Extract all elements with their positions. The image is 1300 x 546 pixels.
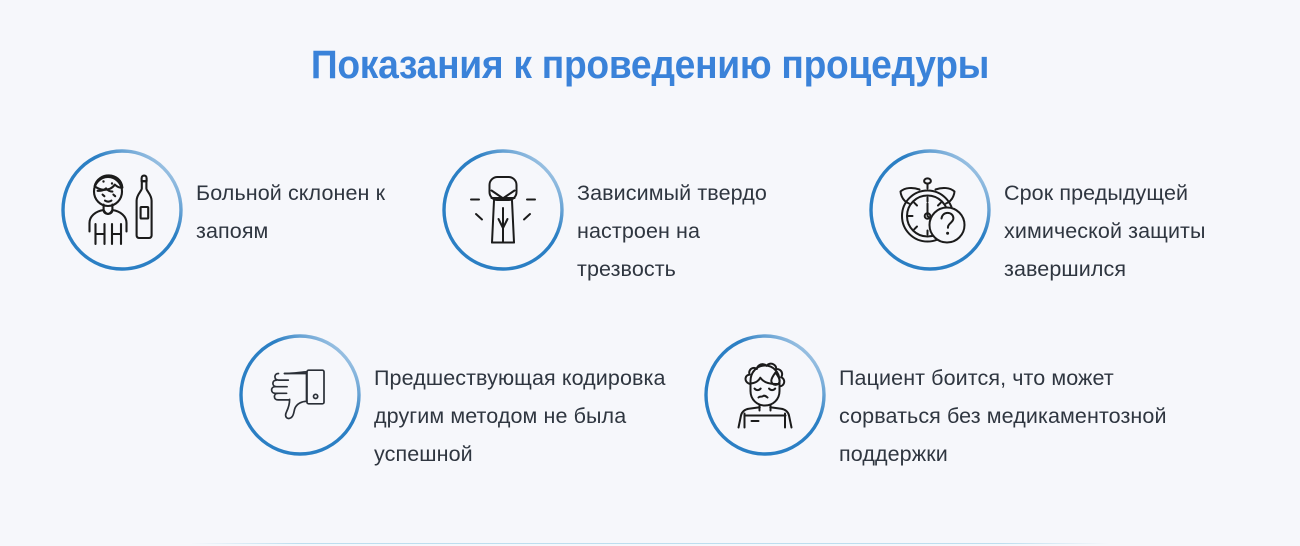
page-title: Показания к проведению процедуры	[46, 44, 1255, 86]
indication-item-previous-coding-failed: Предшествующая кодировка другим методом …	[238, 333, 688, 473]
person-with-bottle-icon	[60, 148, 184, 272]
indication-item-firm-sobriety-intent: Зависимый твердо настроен на трезвость	[441, 148, 831, 288]
indication-item-fear-of-relapse: Пациент боится, что может сорваться без …	[703, 333, 1223, 473]
bottom-divider	[190, 543, 1110, 544]
icon-badge	[441, 148, 565, 272]
indication-text: Зависимый твердо настроен на трезвость	[577, 148, 795, 288]
determined-person-icon	[441, 148, 565, 272]
thumbs-down-icon	[238, 333, 362, 457]
indication-item-previous-protection-expired: Срок предыдущей химической защиты заверш…	[868, 148, 1268, 288]
indication-item-binge-drinking: Больной склонен к запоям	[60, 148, 450, 272]
indication-text: Предшествующая кодировка другим методом …	[374, 333, 688, 473]
indication-text: Пациент боится, что может сорваться без …	[839, 333, 1209, 473]
icon-badge	[238, 333, 362, 457]
indication-text: Больной склонен к запоям	[196, 148, 428, 250]
icon-badge	[60, 148, 184, 272]
infographic-canvas: Показания к проведению процедуры	[0, 0, 1300, 546]
icon-badge	[868, 148, 992, 272]
icon-badge	[703, 333, 827, 457]
indication-text: Срок предыдущей химической защиты заверш…	[1004, 148, 1258, 288]
alarm-clock-question-icon	[868, 148, 992, 272]
worried-patient-icon	[703, 333, 827, 457]
